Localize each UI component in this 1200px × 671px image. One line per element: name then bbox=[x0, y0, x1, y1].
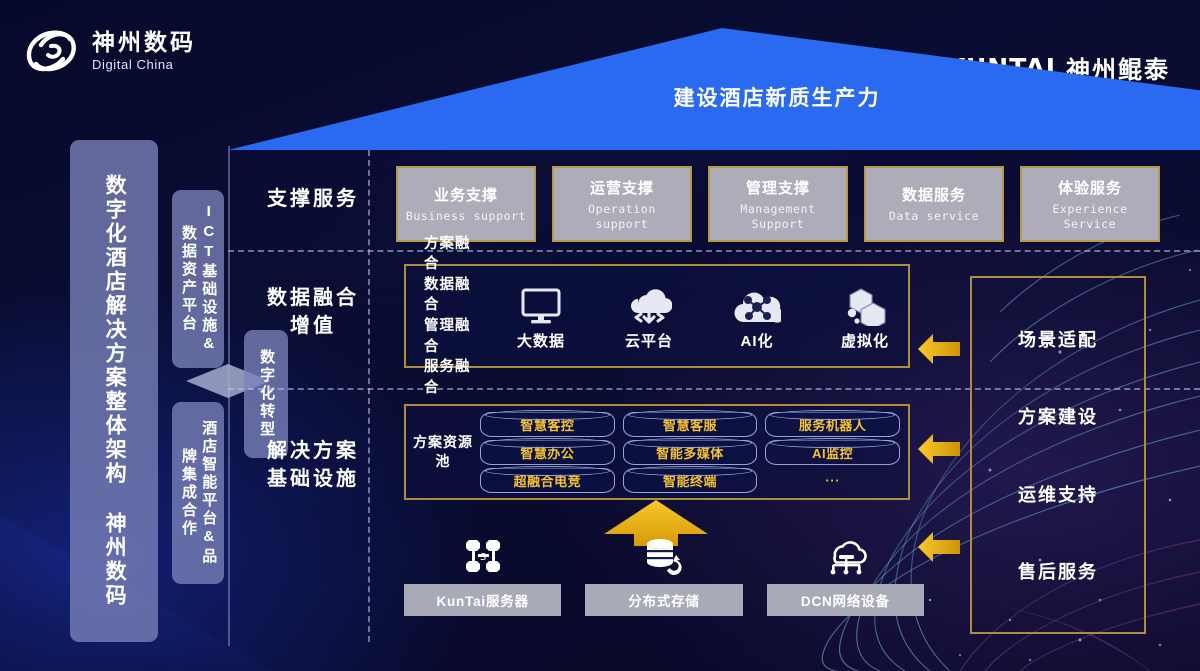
support-label-cn: 运营支撑 bbox=[590, 177, 654, 198]
resource-pool-grid: 智慧客控 智慧客服 服务机器人 智慧办公 智能多媒体 AI监控 超融合电竞 智能… bbox=[480, 412, 908, 493]
support-services-row: 业务支撑 Business support 运营支撑 Operation sup… bbox=[396, 166, 1160, 242]
cloud-arrows-icon bbox=[626, 282, 672, 326]
slide-canvas: 神州数码 Digital China KUNTAI 神州鲲泰 建设酒店新质生产力… bbox=[0, 0, 1200, 671]
resource-pool-label-line1: 方案资源池 bbox=[413, 434, 473, 469]
support-box-management[interactable]: 管理支撑 Management Support bbox=[708, 166, 848, 242]
row-label-data-fusion: 数据融合增值 bbox=[258, 285, 368, 340]
pool-item[interactable]: 智能多媒体 bbox=[623, 440, 758, 465]
support-label-en: Operation support bbox=[560, 202, 684, 232]
capability-bigdata[interactable]: 大数据 bbox=[498, 282, 584, 351]
service-item-scene-adaptation[interactable]: 场景适配 bbox=[1018, 326, 1098, 352]
support-label-en: Management Support bbox=[716, 202, 840, 232]
capability-label: 大数据 bbox=[517, 330, 565, 351]
roof-title: 建设酒店新质生产力 bbox=[612, 82, 942, 112]
left-arrow-icon-2 bbox=[918, 434, 960, 464]
support-box-experience[interactable]: 体验服务 Experience Service bbox=[1020, 166, 1160, 242]
left-arrow-icon-3 bbox=[918, 532, 960, 562]
row-divider-1 bbox=[228, 250, 1200, 252]
fusion-item: 方案融合 bbox=[424, 234, 472, 275]
cubes-icon bbox=[842, 282, 888, 326]
resource-pool-label: 方案资源池 bbox=[412, 433, 474, 471]
capability-label: AI化 bbox=[740, 330, 773, 351]
pool-item[interactable]: 智慧客服 bbox=[623, 412, 758, 437]
server-cluster-icon: S bbox=[463, 534, 503, 578]
support-label-cn: 业务支撑 bbox=[434, 184, 498, 205]
support-box-business[interactable]: 业务支撑 Business support bbox=[396, 166, 536, 242]
svg-text:S: S bbox=[479, 552, 485, 563]
left-arrow-icon-1 bbox=[918, 334, 960, 364]
row-label-infrastructure: 解决方案基础设施 bbox=[258, 438, 368, 493]
pool-item[interactable]: 服务机器人 bbox=[765, 412, 900, 437]
infra-network[interactable]: DCN网络设备 bbox=[767, 534, 924, 616]
capability-cloud[interactable]: 云平台 bbox=[606, 282, 692, 351]
capability-ai[interactable]: AI化 bbox=[714, 282, 800, 351]
support-box-data-service[interactable]: 数据服务 Data service bbox=[864, 166, 1004, 242]
capability-label: 云平台 bbox=[625, 330, 673, 351]
infra-label: DCN网络设备 bbox=[767, 584, 924, 616]
capability-label: 虚拟化 bbox=[841, 330, 889, 351]
column-divider bbox=[368, 150, 370, 642]
services-panel: 场景适配 方案建设 运维支持 售后服务 bbox=[970, 276, 1146, 634]
monitor-icon bbox=[520, 282, 562, 326]
data-fusion-band: 方案融合 数据融合 管理融合 服务融合 大数据 bbox=[404, 264, 910, 368]
brand-name-en: Digital China bbox=[92, 57, 196, 72]
fusion-list: 方案融合 数据融合 管理融合 服务融合 bbox=[424, 234, 472, 399]
database-sync-icon bbox=[643, 534, 685, 578]
service-item-solution-build[interactable]: 方案建设 bbox=[1018, 403, 1098, 429]
panel-hotel-smart-platform[interactable]: 酒店智能平台&品牌集成合作 bbox=[172, 402, 224, 584]
infrastructure-row: S KunTai服务器 bbox=[404, 534, 924, 616]
support-label-cn: 数据服务 bbox=[902, 184, 966, 205]
pool-item-more[interactable]: ··· bbox=[765, 468, 900, 493]
support-label-en: Experience Service bbox=[1028, 202, 1152, 232]
infra-label: KunTai服务器 bbox=[404, 584, 561, 616]
infra-server[interactable]: S KunTai服务器 bbox=[404, 534, 561, 616]
support-label-cn: 体验服务 bbox=[1058, 177, 1122, 198]
pool-item[interactable]: 智慧办公 bbox=[480, 440, 615, 465]
cloud-ai-nodes-icon bbox=[733, 282, 781, 326]
support-label-cn: 管理支撑 bbox=[746, 177, 810, 198]
service-item-after-sales[interactable]: 售后服务 bbox=[1018, 558, 1098, 584]
infra-label: 分布式存储 bbox=[585, 584, 742, 616]
support-box-operation[interactable]: 运营支撑 Operation support bbox=[552, 166, 692, 242]
capability-virtualization[interactable]: 虚拟化 bbox=[822, 282, 908, 351]
fusion-item: 管理融合 bbox=[424, 316, 472, 357]
brand-logo-left: 神州数码 Digital China bbox=[24, 26, 196, 76]
support-label-en: Business support bbox=[406, 209, 526, 224]
infra-storage[interactable]: 分布式存储 bbox=[585, 534, 742, 616]
pool-item[interactable]: 智能终端 bbox=[623, 468, 758, 493]
capability-icons: 大数据 云平台 bbox=[498, 282, 908, 351]
pool-item[interactable]: 智慧客控 bbox=[480, 412, 615, 437]
solution-resource-pool: 方案资源池 智慧客控 智慧客服 服务机器人 智慧办公 智能多媒体 AI监控 超融… bbox=[404, 404, 910, 500]
row-label-support: 支撑服务 bbox=[258, 186, 368, 214]
panel-ict-infrastructure[interactable]: ICT基础设施&数据资产平台 bbox=[172, 190, 224, 368]
galaxy-swirl-logo-icon bbox=[24, 26, 80, 76]
service-item-ops-support[interactable]: 运维支持 bbox=[1018, 481, 1098, 507]
panel-overall-architecture[interactable]: 数字化酒店解决方案整体架构 神州数码 bbox=[70, 140, 158, 642]
network-switch-icon bbox=[823, 534, 867, 578]
brand-name-cn: 神州数码 bbox=[92, 30, 196, 55]
pool-item[interactable]: AI监控 bbox=[765, 440, 900, 465]
pool-item[interactable]: 超融合电竞 bbox=[480, 468, 615, 493]
fusion-item: 服务融合 bbox=[424, 357, 472, 398]
support-label-en: Data service bbox=[889, 209, 979, 224]
fusion-item: 数据融合 bbox=[424, 275, 472, 316]
